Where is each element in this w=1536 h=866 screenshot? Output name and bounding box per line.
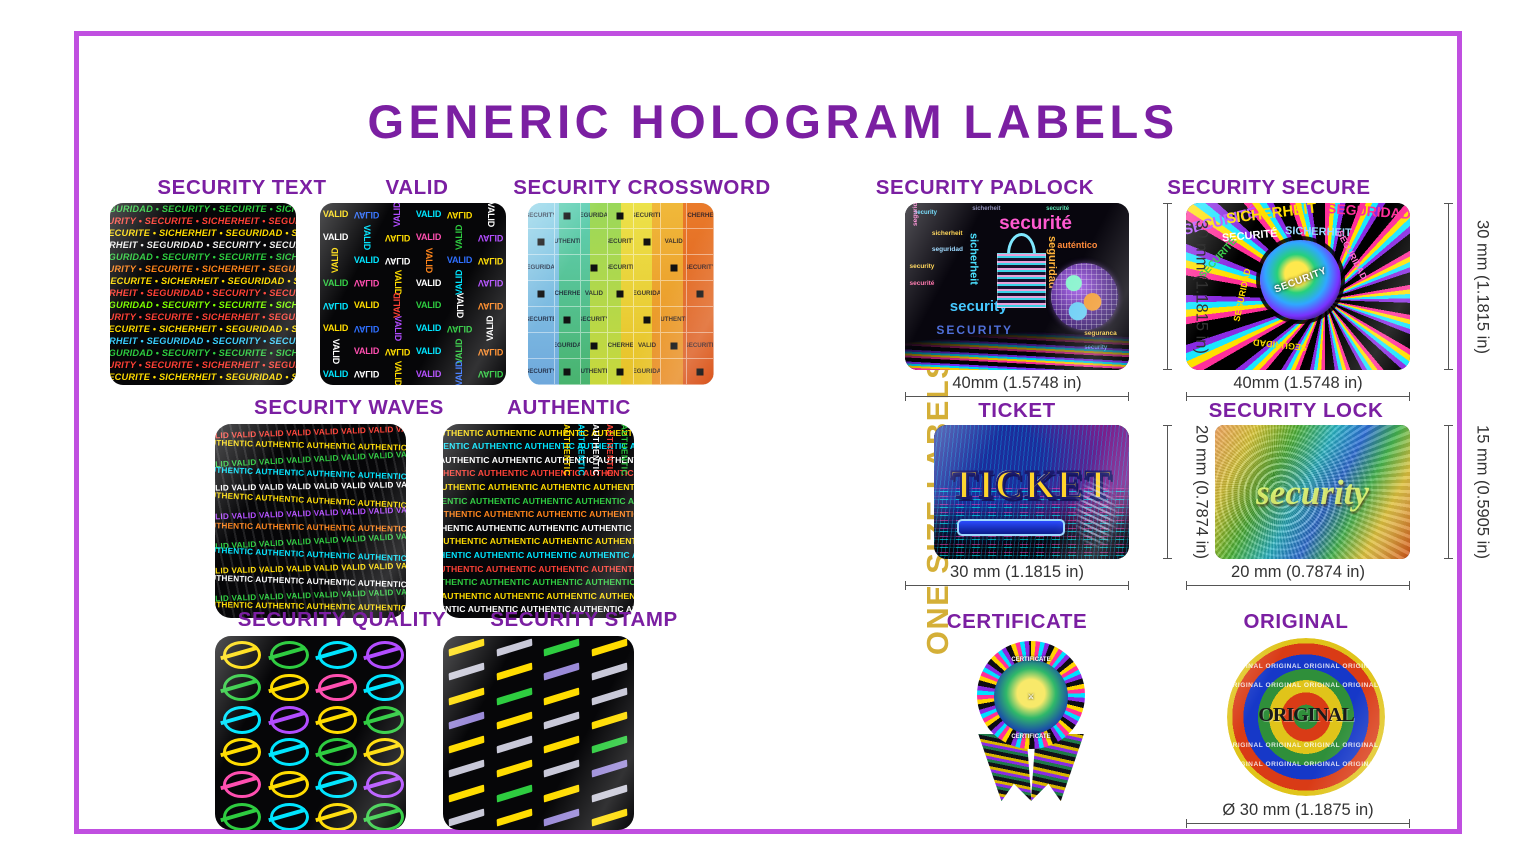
sticker-security-waves[interactable]: VALID VALID VALID VALID VALID VALID VALI… [215,424,406,618]
dimension-width-secure: 40mm (1.5748 in) [1186,374,1410,397]
sticker-authentic[interactable]: AUTHENTIC AUTHENTIC AUTHENTIC AUTHENTIC … [443,424,634,618]
ticket-ghost-image [1069,476,1124,551]
poster-page: GENERIC HOLOGRAM LABELS SECURITY TEXT VA… [0,0,1536,866]
original-center-word: ORIGINAL [1236,704,1375,727]
poster-frame: GENERIC HOLOGRAM LABELS SECURITY TEXT VA… [74,31,1462,834]
sticker-security-text[interactable]: SEGURIDAD • SECURITY • SECURITÉ • SICHER… [110,203,296,385]
crossword-grid: SECURITYSEGURIDADSECURITÉSICHERHEIT AUTH… [528,203,714,385]
caption-certificate: CERTIFICATE [909,610,1125,634]
sticker-valid[interactable]: VALID VALID VALID VALID VALID VALID VALI… [320,203,506,385]
ticket-bar [957,519,1064,536]
sticker-security-stamp[interactable] [443,636,634,830]
dimension-diameter-original: Ø 30 mm (1.1875 in) [1186,801,1410,824]
authentic-vertical-words: AUTHENTIC AUTHENTIC AUTHENTIC AUTHENTIC … [558,424,634,618]
sticker-security-quality[interactable] [215,636,406,830]
page-title: GENERIC HOLOGRAM LABELS [79,94,1467,149]
dimension-height-ticket: 20 mm (0.7874 in) [1134,425,1168,559]
caption-original: ORIGINAL [1184,610,1408,634]
dimension-width-ticket: 30 mm (1.1815 in) [905,563,1129,586]
dimension-height-padlock: 30 mm (1.1815 in) [1134,203,1168,370]
caption-security-stamp: SECURITY STAMP [434,608,734,632]
secure-center-emblem: SECURITY [1260,240,1341,321]
caption-security-crossword: SECURITY CROSSWORD [497,176,787,200]
sticker-certificate[interactable]: ⚔ CERTIFICATE CERTIFICATE [960,638,1102,798]
sticker-original[interactable]: ORIGINAL ORIGINAL ORIGINAL ORIGINAL ORIG… [1227,638,1385,796]
sticker-security-lock[interactable]: security [1215,425,1410,559]
caption-security-secure: SECURITY SECURE [1119,176,1419,200]
certificate-top-text: CERTIFICATE [960,657,1102,663]
lock-word: security [1215,473,1410,513]
dimension-height-secure: 30 mm (1.1815 in) [1415,203,1449,370]
certificate-bottom-text: CERTIFICATE [960,734,1102,740]
dimension-width-lock: 20 mm (0.7874 in) [1186,563,1410,586]
waves-rows: VALID VALID VALID VALID VALID VALID VALI… [215,424,406,618]
caption-security-lock: SECURITY LOCK [1184,399,1408,423]
sticker-security-secure[interactable]: SECURITÉ SICHERHEIT SEGURIDAD SECURITÉ S… [1186,203,1410,370]
caption-ticket: TICKET [909,399,1125,423]
dimension-width-padlock: 40mm (1.5748 in) [905,374,1129,397]
caption-authentic: AUTHENTIC [429,396,709,420]
sticker-security-crossword[interactable]: SECURITYSEGURIDADSECURITÉSICHERHEIT AUTH… [528,203,714,385]
stamp-bar-grid [443,636,634,830]
certificate-emblem: ⚔ [994,660,1068,734]
quality-ring-grid [215,636,406,830]
valid-grid: VALID VALID VALID VALID VALID VALID VALI… [320,203,506,385]
sticker-security-padlock[interactable]: security sicherheit securité seguridad s… [905,203,1129,370]
caption-security-padlock: SECURITY PADLOCK [835,176,1135,200]
security-text-rows: SEGURIDAD • SECURITY • SECURITÉ • SICHER… [110,203,296,385]
dimension-height-lock: 15 mm (0.5905 in) [1415,425,1449,559]
caption-valid: VALID [317,176,517,200]
sticker-ticket[interactable]: TICKET [934,425,1129,559]
